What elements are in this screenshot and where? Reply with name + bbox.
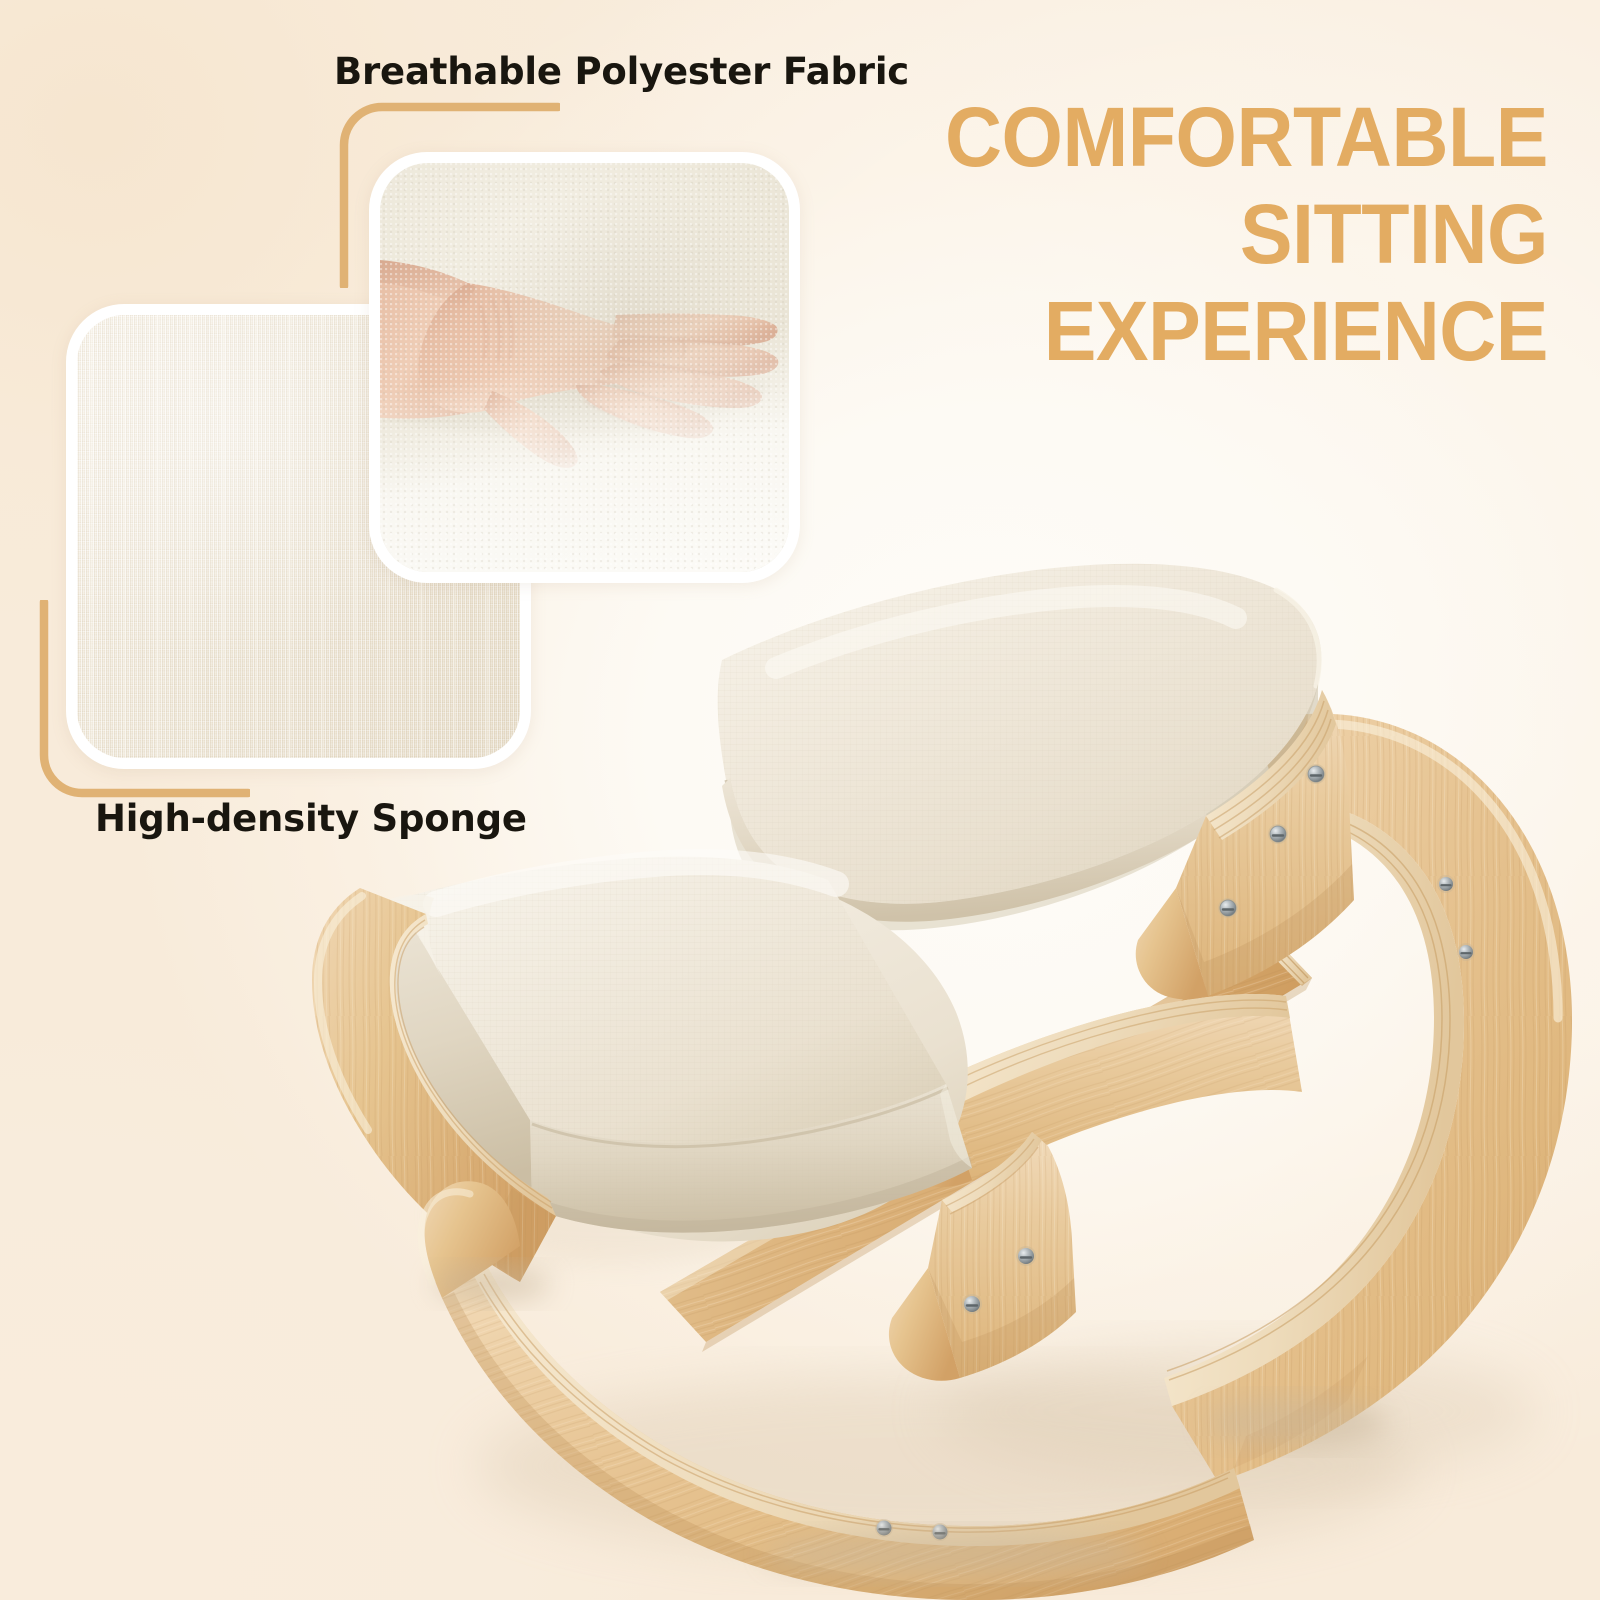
headline-line-2: SITTING bbox=[920, 193, 1548, 276]
headline-line-1: COMFORTABLE bbox=[920, 96, 1548, 179]
foam-press-photo bbox=[380, 163, 789, 572]
page-title: COMFORTABLE SITTING EXPERIENCE bbox=[880, 96, 1548, 373]
marketing-banner: COMFORTABLE SITTING EXPERIENCE Breathabl… bbox=[0, 0, 1600, 1600]
foam-texture-grain bbox=[380, 163, 789, 572]
callout-label-fabric: Breathable Polyester Fabric bbox=[334, 50, 909, 93]
headline-line-3: EXPERIENCE bbox=[920, 290, 1548, 373]
photo-card-foam-press bbox=[369, 152, 800, 583]
